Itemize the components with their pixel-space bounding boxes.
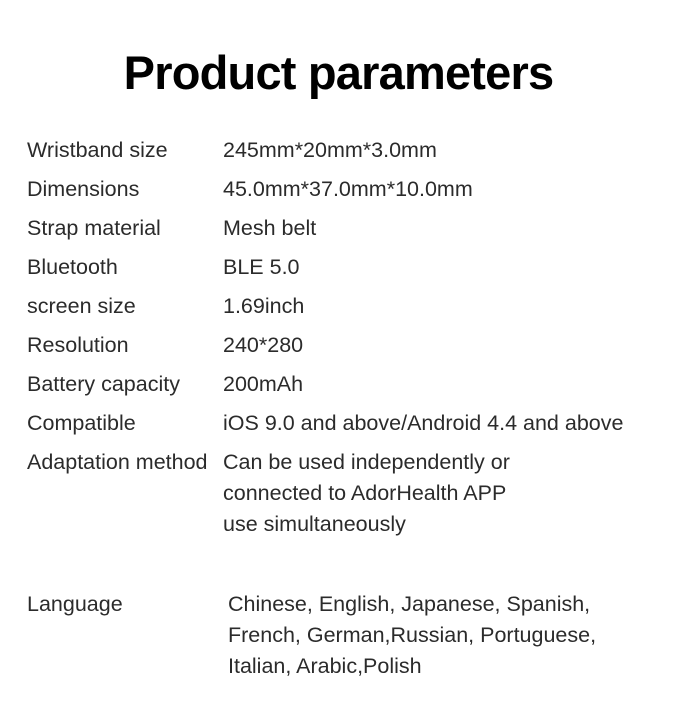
spec-label: Resolution — [0, 326, 223, 365]
spec-row: Dimensions45.0mm*37.0mm*10.0mm — [0, 170, 677, 209]
spec-label: Compatible — [0, 404, 223, 443]
spec-row: Strap materialMesh belt — [0, 209, 677, 248]
spec-label: screen size — [0, 287, 223, 326]
spec-value-line: Italian, Arabic,Polish — [228, 651, 677, 682]
spec-row: CompatibleiOS 9.0 and above/Android 4.4 … — [0, 404, 677, 443]
spec-value: 245mm*20mm*3.0mm — [223, 131, 677, 170]
spec-row: screen size1.69inch — [0, 287, 677, 326]
page-title: Product parameters — [0, 46, 677, 100]
spec-label: Dimensions — [0, 170, 223, 209]
spec-value: Mesh belt — [223, 209, 677, 248]
spec-label: Wristband size — [0, 131, 223, 170]
spec-row: Battery capacity200mAh — [0, 365, 677, 404]
spec-value: BLE 5.0 — [223, 248, 677, 287]
spec-value: 45.0mm*37.0mm*10.0mm — [223, 170, 677, 209]
spec-row: Adaptation methodCan be used independent… — [0, 443, 677, 540]
spec-value-line: Chinese, English, Japanese, Spanish, — [228, 589, 677, 620]
spec-row: Resolution240*280 — [0, 326, 677, 365]
specification-list: Wristband size245mm*20mm*3.0mmDimensions… — [0, 131, 677, 682]
spec-row: LanguageChinese, English, Japanese, Span… — [0, 585, 677, 682]
spec-row: BluetoothBLE 5.0 — [0, 248, 677, 287]
spec-label: Language — [0, 585, 223, 624]
spec-value-line: French, German,Russian, Portuguese, — [228, 620, 677, 651]
spec-label: Strap material — [0, 209, 223, 248]
spec-value: Chinese, English, Japanese, Spanish,Fren… — [223, 585, 677, 682]
spec-value-line: connected to AdorHealth APP — [223, 478, 677, 509]
spec-value-line: use simultaneously — [223, 509, 677, 540]
spec-label: Battery capacity — [0, 365, 223, 404]
spec-value: 240*280 — [223, 326, 677, 365]
spec-value: iOS 9.0 and above/Android 4.4 and above — [223, 404, 677, 443]
spec-label: Adaptation method — [0, 443, 223, 482]
spec-value: Can be used independently orconnected to… — [223, 443, 677, 540]
spec-value: 200mAh — [223, 365, 677, 404]
product-parameters-page: Product parameters Wristband size245mm*2… — [0, 0, 677, 720]
spec-row: Wristband size245mm*20mm*3.0mm — [0, 131, 677, 170]
spec-label: Bluetooth — [0, 248, 223, 287]
spec-value: 1.69inch — [223, 287, 677, 326]
spec-value-line: Can be used independently or — [223, 447, 677, 478]
